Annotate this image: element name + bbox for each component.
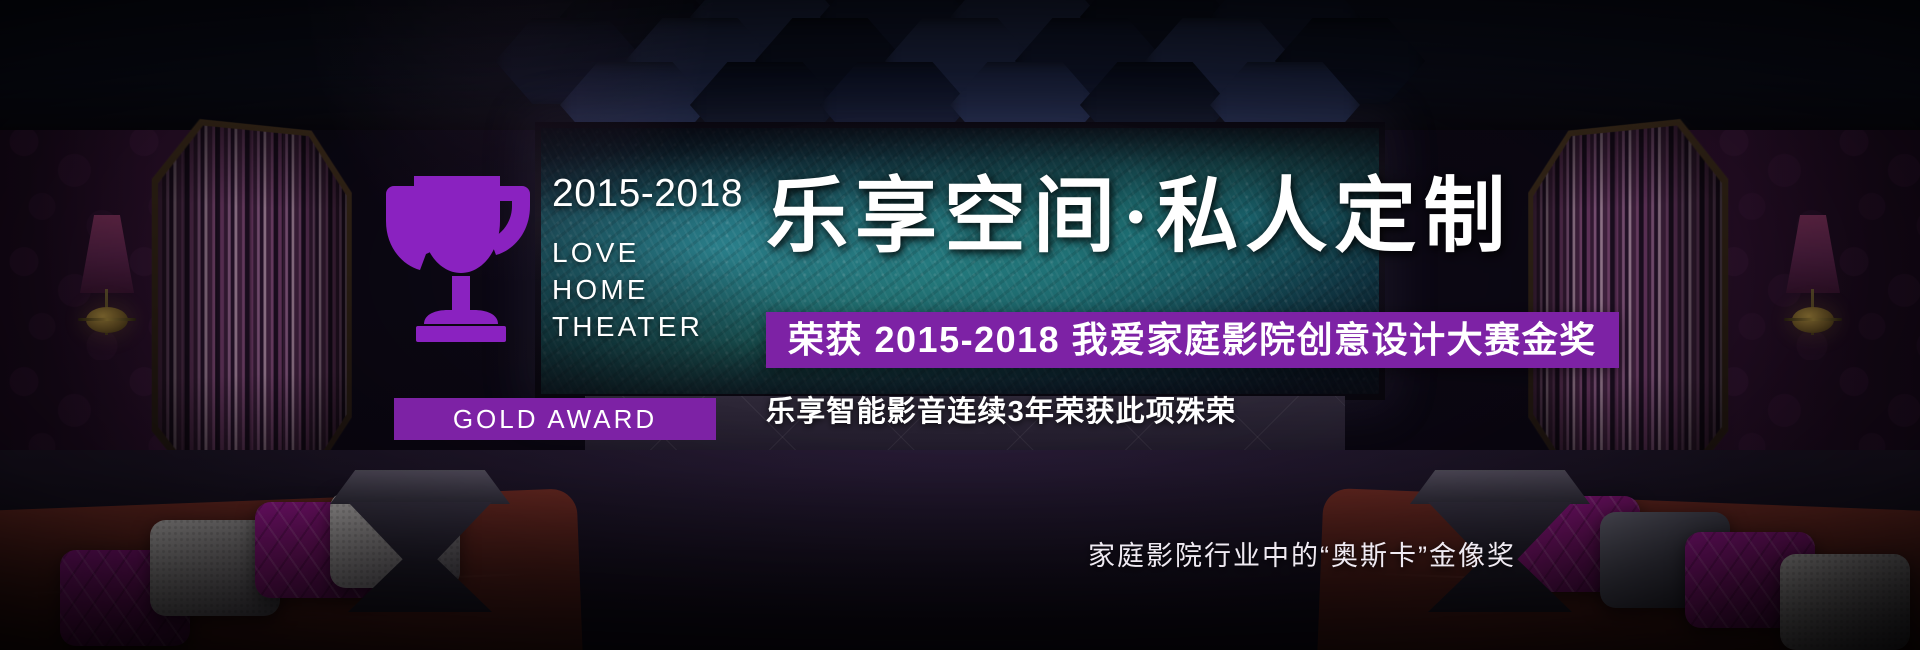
trophy-icon	[386, 168, 536, 368]
home-theater-award-banner: 2015-2018 LOVE HOME THEATER GOLD AWARD 乐…	[0, 0, 1920, 650]
award-lockup: 2015-2018 LOVE HOME THEATER	[386, 168, 743, 368]
gold-award-label: GOLD AWARD	[453, 404, 657, 435]
page-title: 乐享空间·私人定制	[766, 176, 1512, 258]
award-highlight-text: 荣获 2015-2018 我爱家庭影院创意设计大赛金奖	[788, 322, 1597, 358]
banner-content: 2015-2018 LOVE HOME THEATER GOLD AWARD 乐…	[0, 0, 1920, 650]
award-highlight-bar: 荣获 2015-2018 我爱家庭影院创意设计大赛金奖	[766, 312, 1619, 368]
award-text-block: 2015-2018 LOVE HOME THEATER	[552, 168, 743, 346]
award-subline: 乐享智能影音连续3年荣获此项殊荣	[766, 388, 1236, 430]
org-line-2: HOME	[552, 272, 743, 309]
award-organization: LOVE HOME THEATER	[552, 235, 743, 346]
org-line-1: LOVE	[552, 235, 743, 272]
org-line-3: THEATER	[552, 309, 743, 346]
gold-award-badge: GOLD AWARD	[394, 398, 716, 440]
award-years: 2015-2018	[552, 174, 743, 213]
award-caption: 家庭影院行业中的“奥斯卡”金像奖	[1088, 534, 1516, 573]
